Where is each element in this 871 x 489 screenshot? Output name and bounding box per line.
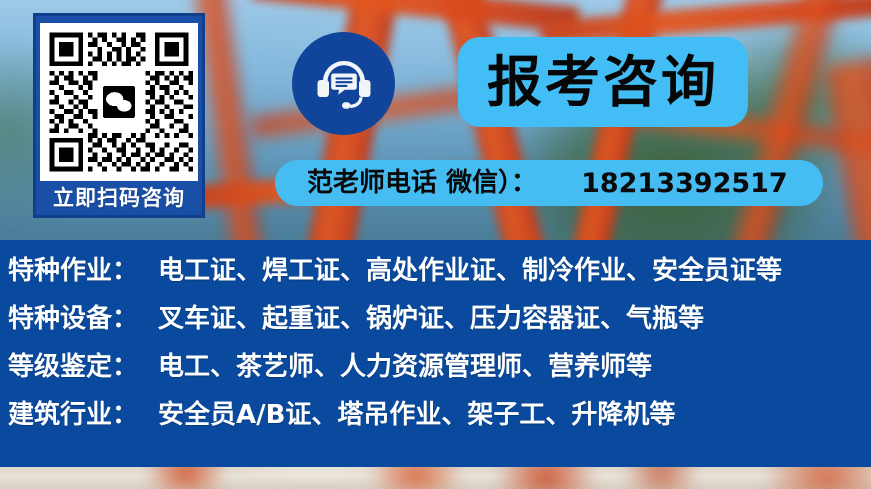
- list-item: 特种作业： 电工证、焊工证、高处作业证、制冷作业、安全员证等: [0, 258, 871, 306]
- category-value: 叉车证、起重证、锅炉证、压力容器证、气瓶等: [158, 306, 704, 332]
- category-label: 特种设备：: [8, 306, 158, 332]
- list-item: 等级鉴定： 电工、茶艺师、人力资源管理师、营养师等: [0, 354, 871, 402]
- category-value: 电工、茶艺师、人力资源管理师、营养师等: [158, 354, 652, 380]
- category-label: 特种作业：: [8, 258, 158, 284]
- category-label: 等级鉴定：: [8, 354, 158, 380]
- bottom-photo-strip: [0, 467, 871, 489]
- qr-caption: 立即扫码咨询: [53, 188, 185, 209]
- qr-code-icon[interactable]: [40, 23, 198, 181]
- contact-phone-pill[interactable]: 范老师电话 微信）： 18213392517: [275, 160, 823, 206]
- contact-phone-number[interactable]: 18213392517: [581, 170, 788, 197]
- category-value: 电工证、焊工证、高处作业证、制冷作业、安全员证等: [158, 258, 782, 284]
- contact-label: 范老师电话 微信）：: [307, 170, 537, 196]
- list-item: 特种设备： 叉车证、起重证、锅炉证、压力容器证、气瓶等: [0, 306, 871, 354]
- category-label: 建筑行业：: [8, 402, 158, 428]
- page-title: 报考咨询: [487, 55, 719, 110]
- list-item: 建筑行业： 安全员A/B证、塔吊作业、架子工、升降机等: [0, 402, 871, 450]
- promo-poster: 立即扫码咨询: [0, 0, 871, 489]
- headset-support-icon: [292, 32, 395, 135]
- title-pill: 报考咨询: [458, 37, 748, 127]
- qr-code-card[interactable]: 立即扫码咨询: [33, 13, 205, 218]
- category-value: 安全员A/B证、塔吊作业、架子工、升降机等: [158, 402, 675, 428]
- category-list-panel: 特种作业： 电工证、焊工证、高处作业证、制冷作业、安全员证等 特种设备： 叉车证…: [0, 240, 871, 467]
